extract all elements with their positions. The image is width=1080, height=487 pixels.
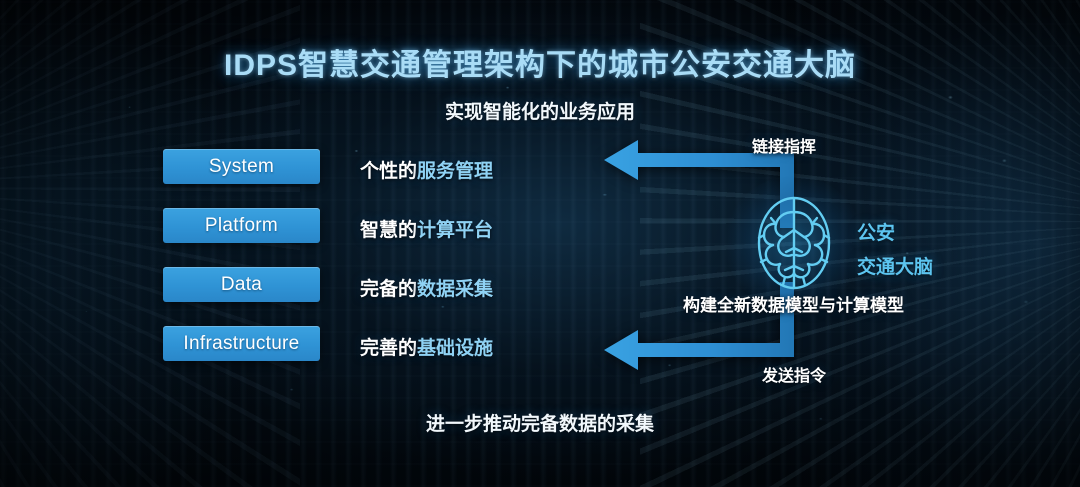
description-prefix: 个性的 [360, 161, 417, 182]
bottom-caption: 进一步推动完备数据的采集 [0, 409, 1080, 436]
description-highlight: 基础设施 [417, 338, 493, 359]
layer-box-label: Data [221, 274, 262, 296]
layer-description-platform: 智慧的计算平台 [360, 215, 493, 242]
layer-description-data: 完备的数据采集 [360, 274, 493, 301]
layer-box-infrastructure[interactable]: Infrastructure [163, 326, 320, 361]
brain-label-line2: 交通大脑 [857, 252, 933, 279]
slide-canvas: IDPS智慧交通管理架构下的城市公安交通大脑 实现智能化的业务应用 进一步推动完… [0, 0, 1080, 487]
brain-graphic [740, 190, 848, 296]
layer-box-platform[interactable]: Platform [163, 208, 320, 243]
layer-description-infrastructure: 完善的基础设施 [360, 333, 493, 360]
layer-box-system[interactable]: System [163, 149, 320, 184]
layer-box-data[interactable]: Data [163, 267, 320, 302]
page-title: IDPS智慧交通管理架构下的城市公安交通大脑 [0, 40, 1080, 84]
description-prefix: 完备的 [360, 279, 417, 300]
layer-box-label: Platform [205, 215, 278, 237]
description-prefix: 智慧的 [360, 220, 417, 241]
description-highlight: 服务管理 [417, 161, 493, 182]
cycle-middle-label: 构建全新数据模型与计算模型 [683, 291, 904, 316]
layer-description-system: 个性的服务管理 [360, 156, 493, 183]
brain-icon [740, 190, 848, 296]
cycle-top-label: 链接指挥 [752, 133, 816, 157]
description-highlight: 计算平台 [417, 220, 493, 241]
description-prefix: 完善的 [360, 338, 417, 359]
layer-box-label: Infrastructure [183, 333, 299, 355]
layer-box-label: System [209, 156, 274, 178]
page-subtitle: 实现智能化的业务应用 [0, 97, 1080, 124]
cycle-bottom-label: 发送指令 [762, 362, 826, 386]
brain-label-line1: 公安 [857, 218, 895, 245]
description-highlight: 数据采集 [417, 279, 493, 300]
